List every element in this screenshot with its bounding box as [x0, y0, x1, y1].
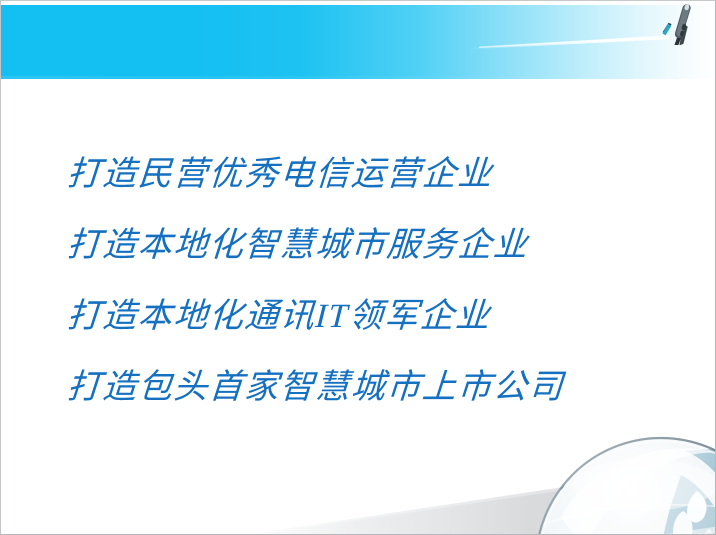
- headline-line-3: 打造本地化通讯IT领军企业: [65, 281, 670, 352]
- slide: 打造民营优秀电信运营企业 打造本地化智慧城市服务企业 打造本地化通讯IT领军企业…: [0, 0, 716, 535]
- headline-line-4: 打造包头首家智慧城市上市公司: [65, 352, 670, 423]
- globe-graphic: [533, 433, 716, 535]
- header-band: [1, 5, 716, 79]
- headline-line-2: 打造本地化智慧城市服务企业: [65, 210, 670, 281]
- headline-block: 打造民营优秀电信运营企业 打造本地化智慧城市服务企业 打造本地化通讯IT领军企业…: [67, 139, 667, 423]
- diagonal-wedge: [1, 414, 716, 534]
- airplane-icon: [658, 3, 712, 45]
- headline-line-1: 打造民营优秀电信运营企业: [65, 139, 670, 210]
